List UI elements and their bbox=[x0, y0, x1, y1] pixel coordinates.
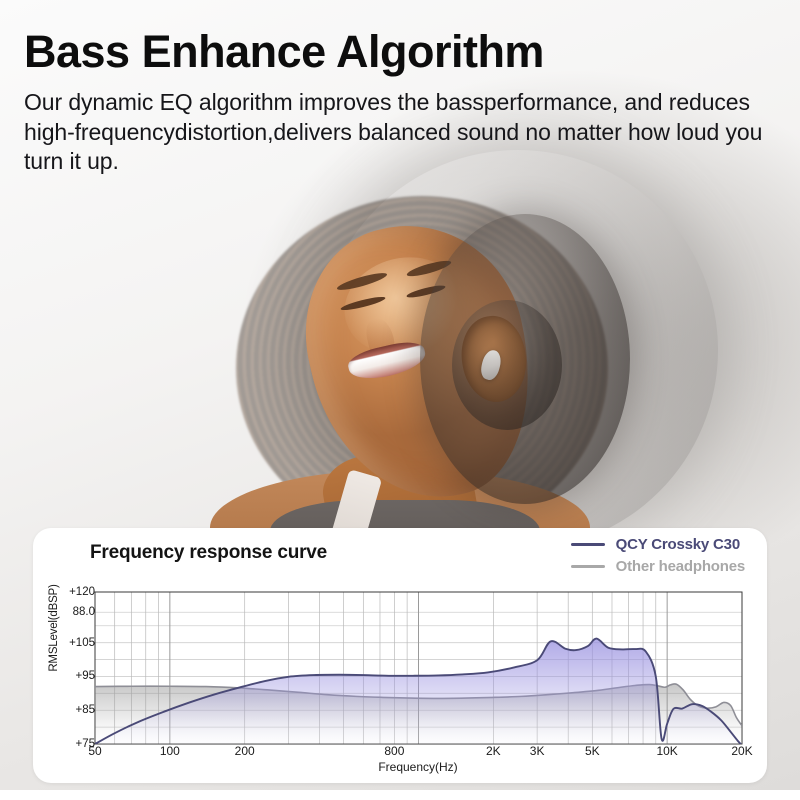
x-axis-ticks: 501002008002K3K5K10K20K bbox=[33, 744, 767, 760]
x-tick-label: 20K bbox=[731, 744, 752, 758]
y-tick-label: +105 bbox=[69, 637, 95, 649]
magnifier-bubble-inner bbox=[452, 300, 562, 430]
y-tick-label: +95 bbox=[75, 670, 95, 682]
page-subtitle: Our dynamic EQ algorithm improves the ba… bbox=[24, 88, 769, 177]
x-tick-label: 2K bbox=[486, 744, 501, 758]
y-axis-label: RMSLevel(dBSP) bbox=[48, 573, 60, 683]
page-title: Bass Enhance Algorithm bbox=[24, 24, 774, 80]
x-axis-label: Frequency(Hz) bbox=[33, 760, 767, 774]
frequency-response-card: Frequency response curve QCY Crossky C30… bbox=[33, 528, 767, 783]
x-tick-label: 10K bbox=[656, 744, 677, 758]
x-tick-label: 100 bbox=[160, 744, 180, 758]
x-tick-label: 5K bbox=[585, 744, 600, 758]
x-tick-label: 50 bbox=[88, 744, 101, 758]
x-tick-label: 200 bbox=[235, 744, 255, 758]
x-tick-label: 3K bbox=[530, 744, 545, 758]
y-tick-label: 88.0 bbox=[73, 606, 95, 618]
y-tick-label: +120 bbox=[69, 586, 95, 598]
product-feature-page: Bass Enhance Algorithm Our dynamic EQ al… bbox=[0, 0, 800, 800]
plot-host: +12088.0+105+95+85+75 501002008002K3K5K1… bbox=[33, 528, 767, 783]
y-tick-label: +85 bbox=[75, 704, 95, 716]
x-tick-label: 800 bbox=[384, 744, 404, 758]
headline-block: Bass Enhance Algorithm Our dynamic EQ al… bbox=[24, 24, 774, 177]
